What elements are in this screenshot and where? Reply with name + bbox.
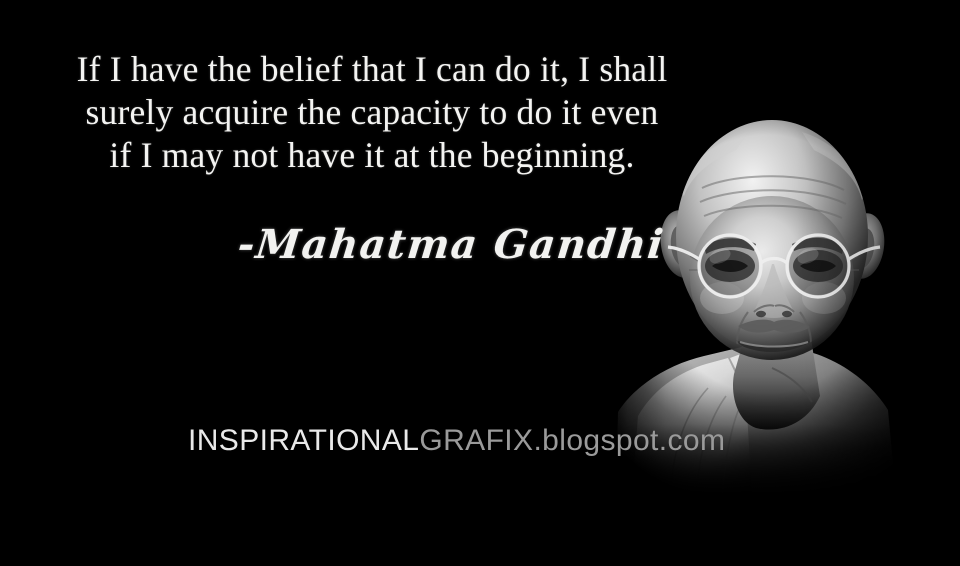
watermark-bright-part: INSPIRATIONAL [188,424,419,457]
quote-line-3: if I may not have it at the beginning. [36,134,708,177]
quote-poster: If I have the belief that I can do it, I… [0,0,960,566]
quote-attribution: -Mahatma Gandhi [236,221,667,268]
quote-line-1: If I have the belief that I can do it, I… [36,48,708,91]
watermark-dim-part: GRAFIX.blogspot.com [419,424,725,457]
quote-text: If I have the belief that I can do it, I… [36,48,708,177]
quote-line-2: surely acquire the capacity to do it eve… [36,91,708,134]
site-watermark: INSPIRATIONALGRAFIX.blogspot.com [188,424,725,458]
